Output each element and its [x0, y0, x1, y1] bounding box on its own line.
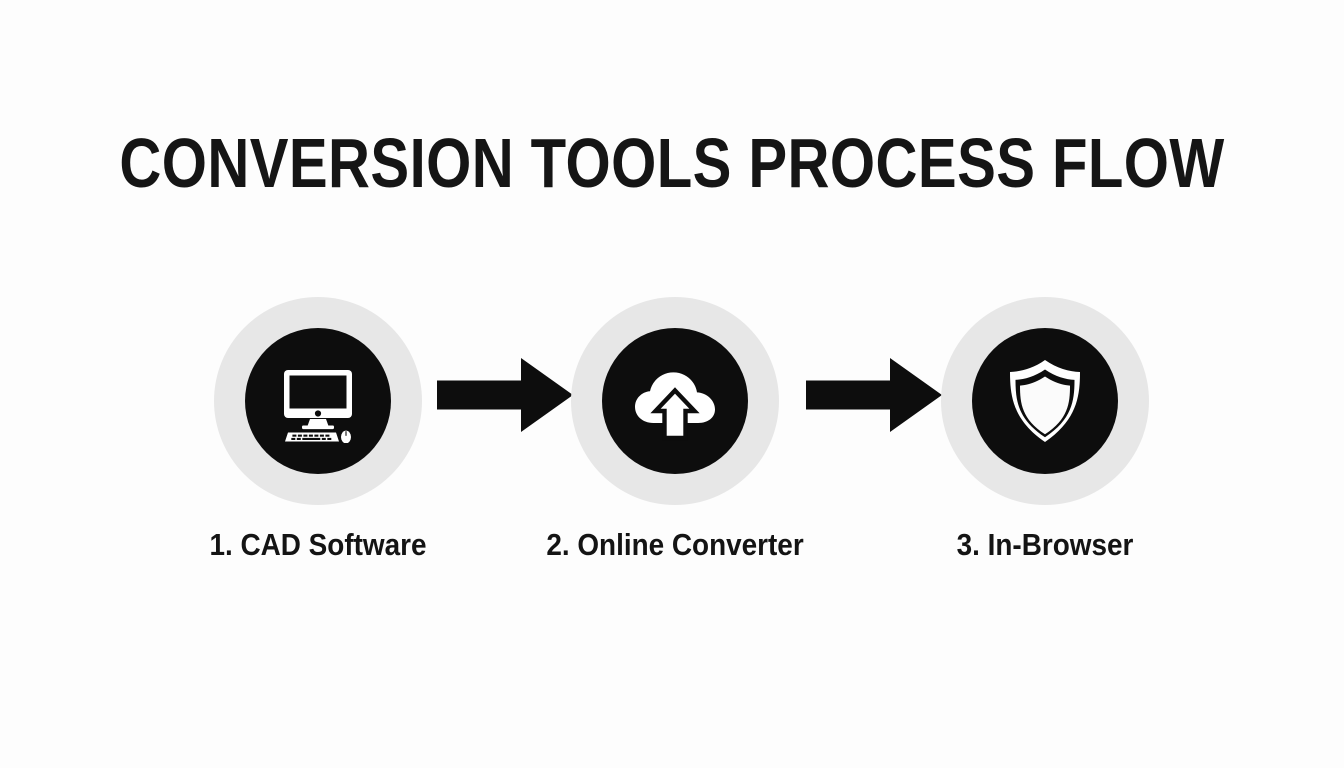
infographic-canvas: CONVERSION TOOLS PROCESS FLOW: [0, 0, 1344, 768]
flow-connector: [437, 358, 573, 432]
step-label: 3. In-Browser: [906, 528, 1185, 562]
shield-icon: [1007, 358, 1083, 444]
flow-step-online-converter: 2. Online Converter: [560, 290, 790, 590]
process-flow: 1. CAD Software: [0, 290, 1344, 590]
page-title: CONVERSION TOOLS PROCESS FLOW: [114, 126, 1230, 200]
step-label: 1. CAD Software: [179, 528, 458, 562]
flow-connector: [806, 358, 942, 432]
step-icon-disc: [972, 328, 1118, 474]
arrow-right-icon: [437, 358, 573, 432]
desktop-computer-icon: [276, 359, 360, 443]
arrow-right-icon: [806, 358, 942, 432]
step-icon-disc: [602, 328, 748, 474]
cloud-upload-icon: [631, 359, 719, 443]
step-label: 2. Online Converter: [536, 528, 815, 562]
flow-step-in-browser: 3. In-Browser: [930, 290, 1160, 590]
step-icon-disc: [245, 328, 391, 474]
flow-step-cad-software: 1. CAD Software: [203, 290, 433, 590]
